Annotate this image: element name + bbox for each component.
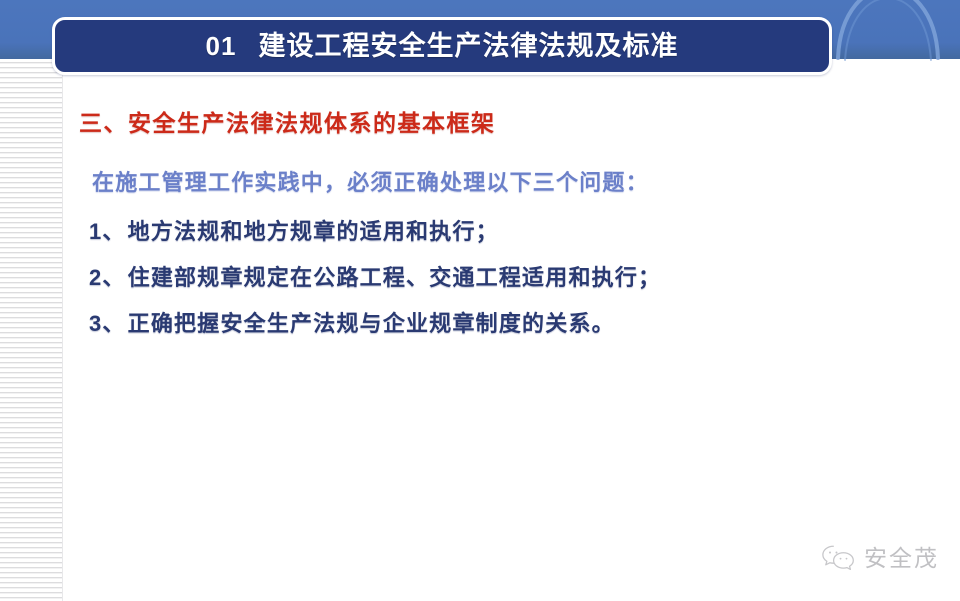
list-item-number: 1、 bbox=[89, 219, 126, 244]
list-item: 3、正确把握安全生产法规与企业规章制度的关系。 bbox=[89, 306, 615, 338]
list-item-text: 正确把握安全生产法规与企业规章制度的关系。 bbox=[128, 311, 615, 336]
slide-canvas: 01建设工程安全生产法律法规及标准 三、安全生产法律法规体系的基本框架 在施工管… bbox=[0, 0, 960, 601]
list-item-number: 2、 bbox=[89, 265, 126, 290]
list-item-number: 3、 bbox=[89, 311, 126, 336]
list-item: 1、地方法规和地方规章的适用和执行； bbox=[89, 214, 499, 246]
list-item-text: 住建部规章规定在公路工程、交通工程适用和执行； bbox=[128, 265, 662, 290]
list-item-text: 地方法规和地方规章的适用和执行； bbox=[128, 219, 499, 244]
list-item: 2、住建部规章规定在公路工程、交通工程适用和执行； bbox=[89, 260, 661, 292]
watermark-text: 安全茂 bbox=[864, 547, 939, 570]
slide-content: 三、安全生产法律法规体系的基本框架 在施工管理工作实践中，必须正确处理以下三个问… bbox=[0, 0, 960, 601]
watermark: 安全茂 bbox=[821, 543, 939, 573]
sub-heading: 在施工管理工作实践中，必须正确处理以下三个问题： bbox=[92, 165, 649, 197]
section-heading: 三、安全生产法律法规体系的基本框架 bbox=[79, 104, 496, 138]
wechat-icon bbox=[821, 543, 855, 573]
